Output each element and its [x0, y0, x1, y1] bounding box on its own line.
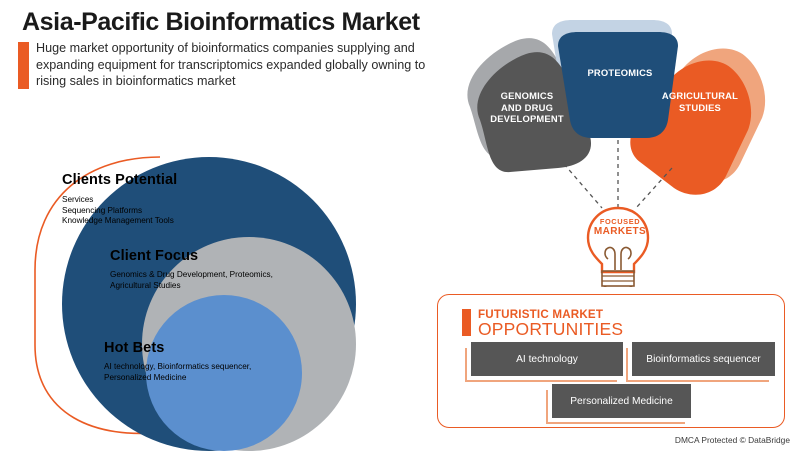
- subtitle-accent-bar: [18, 42, 29, 89]
- opportunity-card-label: Personalized Medicine: [552, 384, 691, 418]
- shield-label-proteomics: PROTEOMICS: [560, 67, 680, 79]
- clients-potential-label: Clients Potential: [62, 172, 356, 188]
- shield-label-agricultural: AGRICULTURAL STUDIES: [640, 90, 760, 113]
- infographic-canvas: Asia-Pacific Bioinformatics Market Huge …: [0, 0, 800, 450]
- focused-markets-svg: [440, 12, 800, 287]
- bulb-text-line1: FOCUSED: [590, 217, 650, 226]
- page-title: Asia-Pacific Bioinformatics Market: [22, 8, 420, 37]
- clients-potential-text: Clients Potential Services Sequencing Pl…: [62, 172, 356, 227]
- hot-bets-text: Hot Bets AI technology, Bioinformatics s…: [104, 340, 344, 383]
- client-focus-text: Client Focus Genomics & Drug Development…: [110, 248, 390, 291]
- futuristic-opportunities-panel: FUTURISTIC MARKET OPPORTUNITIES AI techn…: [437, 294, 785, 428]
- connector-agricultural: [636, 168, 672, 208]
- focused-markets-diagram: GENOMICS AND DRUG DEVELOPMENT PROTEOMICS…: [440, 12, 800, 287]
- opportunity-card-label: Bioinformatics sequencer: [632, 342, 775, 376]
- shield-label-genomics: GENOMICS AND DRUG DEVELOPMENT: [472, 90, 582, 125]
- hot-bets-label: Hot Bets: [104, 340, 344, 356]
- hot-bets-items: AI technology, Bioinformatics sequencer,…: [104, 362, 344, 383]
- connector-genomics: [564, 164, 602, 208]
- bulb-text: FOCUSED MARKETS: [590, 217, 650, 237]
- page-subtitle: Huge market opportunity of bioinformatic…: [36, 40, 436, 90]
- bulb-base: [602, 271, 634, 286]
- clients-potential-items: Services Sequencing Platforms Knowledge …: [62, 195, 356, 227]
- copyright-notice: DMCA Protected © DataBridge: [675, 435, 790, 445]
- bulb-text-line2: MARKETS: [590, 226, 650, 237]
- clients-concentric-diagram: Clients Potential Services Sequencing Pl…: [0, 140, 400, 450]
- client-focus-label: Client Focus: [110, 248, 390, 264]
- opportunities-heading-line2: OPPORTUNITIES: [478, 319, 623, 340]
- client-focus-items: Genomics & Drug Development, Proteomics,…: [110, 270, 390, 291]
- opportunity-card-label: AI technology: [471, 342, 623, 376]
- opportunities-accent-bar: [462, 309, 471, 336]
